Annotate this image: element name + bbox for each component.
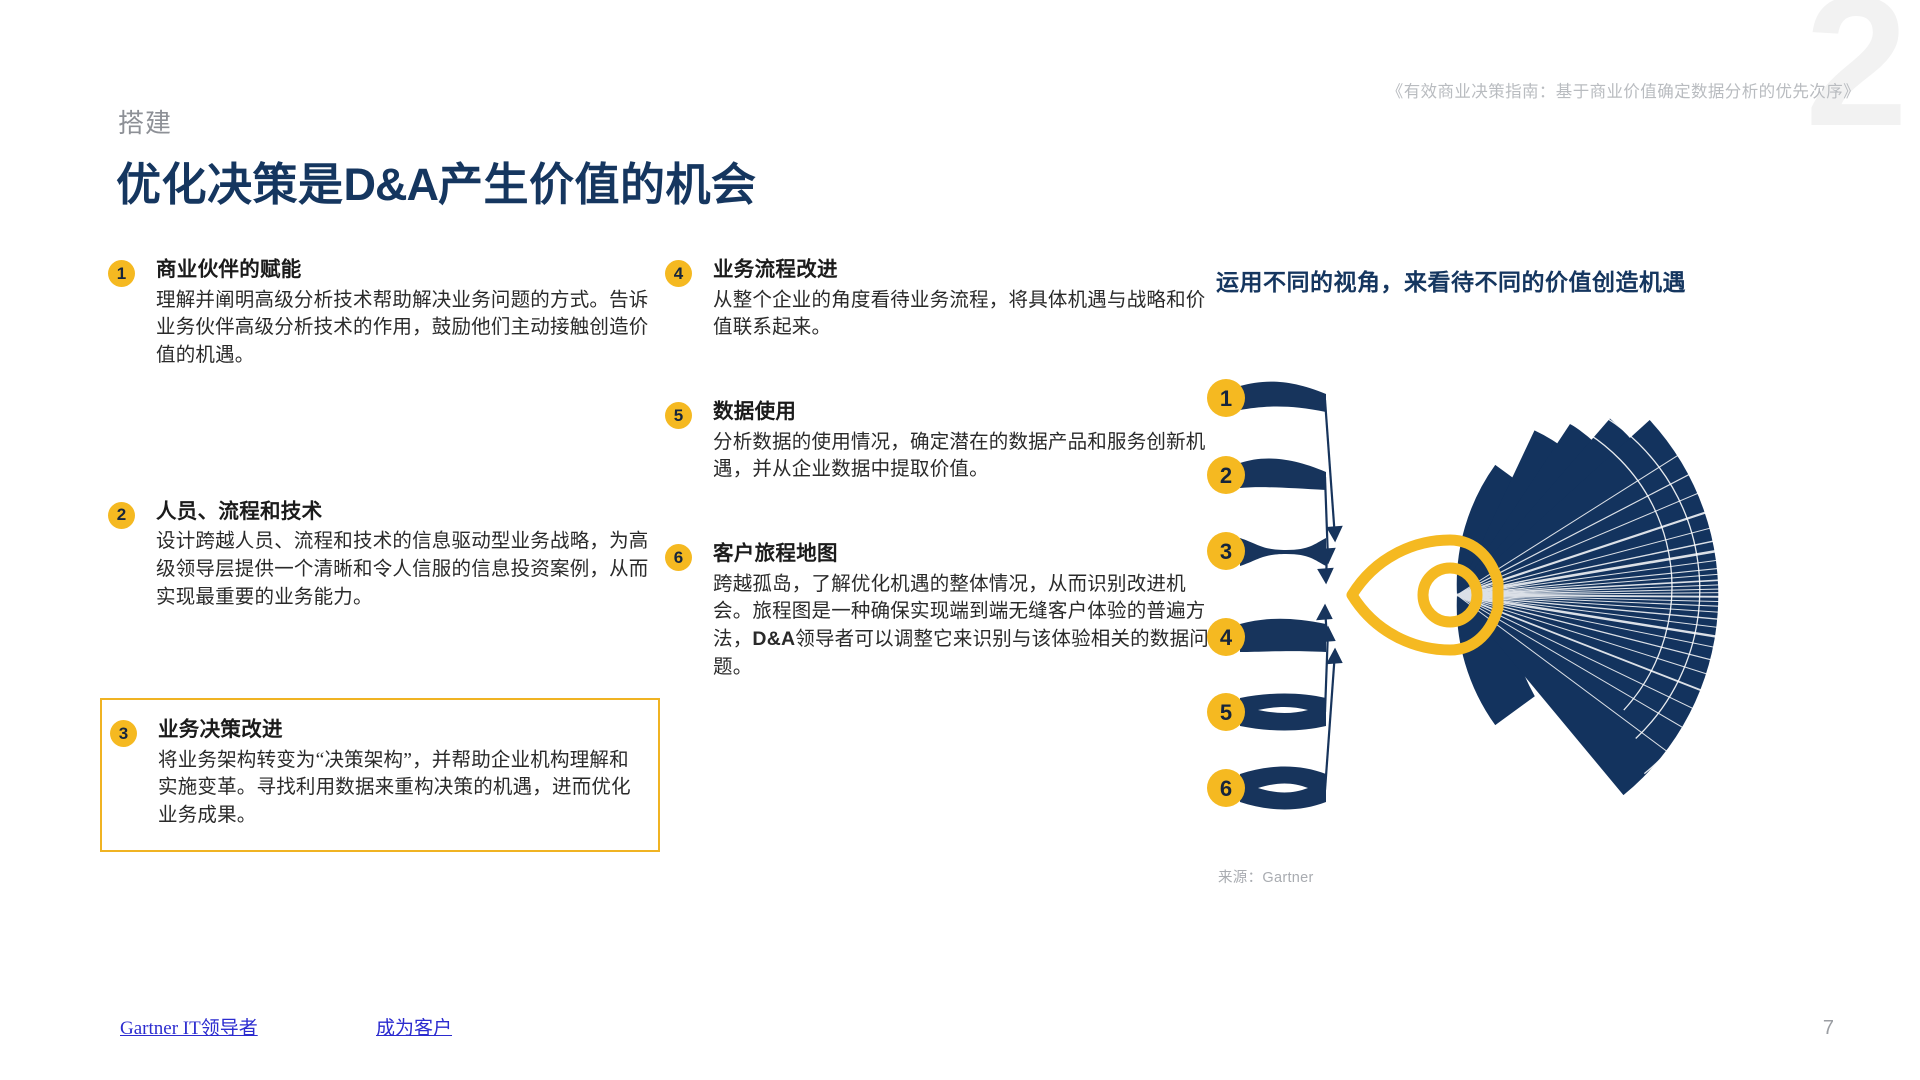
page-title-latin: D&A bbox=[344, 159, 439, 210]
list-item: 6 客户旅程地图 跨越孤岛，了解优化机遇的整体情况，从而识别改进机会。旅程图是一… bbox=[665, 542, 1225, 681]
lens-badge-label: 1 bbox=[1220, 386, 1232, 411]
lens-shapes bbox=[1240, 382, 1326, 810]
lens-badge-label: 4 bbox=[1220, 625, 1233, 650]
document-title-header: 《有效商业决策指南：基于商业价值确定数据分析的优先次序》 bbox=[1387, 78, 1860, 102]
lens-badge-label: 5 bbox=[1220, 700, 1232, 725]
page-title-part-2: 产生价值的机会 bbox=[438, 160, 757, 210]
lens-badge-label: 3 bbox=[1220, 539, 1232, 564]
footer-link-gartner-it-leaders[interactable]: Gartner IT领导者 bbox=[120, 1013, 258, 1040]
list-item: 5 数据使用 分析数据的使用情况，确定潜在的数据产品和服务创新机遇，并从企业数据… bbox=[665, 400, 1225, 484]
item-body: 理解并阐明高级分析技术帮助解决业务问题的方式。告诉业务伙伴高级分析技术的作用，鼓… bbox=[156, 287, 668, 370]
item-number-badge: 6 bbox=[665, 544, 692, 571]
convergence-arrows bbox=[1318, 400, 1341, 790]
item-number-badge: 1 bbox=[108, 260, 135, 287]
item-title: 客户旅程地图 bbox=[713, 542, 1225, 568]
item-body: 将业务架构转变为“决策架构”，并帮助企业机构理解和实施变革。寻找利用数据来重构决… bbox=[158, 747, 642, 830]
item-title: 商业伙伴的赋能 bbox=[156, 258, 668, 284]
footer-link-become-client[interactable]: 成为客户 bbox=[376, 1013, 452, 1040]
item-title: 业务决策改进 bbox=[158, 718, 642, 744]
item-body: 跨越孤岛，了解优化机遇的整体情况，从而识别改进机会。旅程图是一种确保实现端到端无… bbox=[713, 571, 1225, 682]
list-item: 4 业务流程改进 从整个企业的角度看待业务流程，将具体机遇与战略和价值联系起来。 bbox=[665, 258, 1225, 342]
list-item: 1 商业伙伴的赋能 理解并阐明高级分析技术帮助解决业务问题的方式。告诉业务伙伴高… bbox=[108, 258, 668, 370]
item-body-latin: D&A bbox=[752, 628, 795, 650]
highlighted-item-box[interactable]: 3 业务决策改进 将业务架构转变为“决策架构”，并帮助企业机构理解和实施变革。寻… bbox=[100, 698, 660, 852]
source-caption: 来源：Gartner bbox=[1218, 866, 1314, 887]
list-item: 2 人员、流程和技术 设计跨越人员、流程和技术的信息驱动型业务战略，为高级领导层… bbox=[108, 500, 668, 612]
column-two: 4 业务流程改进 从整个企业的角度看待业务流程，将具体机遇与战略和价值联系起来。… bbox=[665, 258, 1225, 681]
perspectives-diagram: 1 2 3 4 5 6 bbox=[1200, 360, 1900, 830]
right-panel-heading: 运用不同的视角，来看待不同的价值创造机遇 bbox=[1216, 263, 1686, 297]
diagram-svg: 1 2 3 4 5 6 bbox=[1200, 360, 1900, 830]
slide-root: 2 《有效商业决策指南：基于商业价值确定数据分析的优先次序》 搭建 优化决策是D… bbox=[0, 0, 1920, 1080]
list-item: 3 业务决策改进 将业务架构转变为“决策架构”，并帮助企业机构理解和实施变革。寻… bbox=[110, 718, 642, 830]
lens-badge-label: 2 bbox=[1220, 463, 1232, 488]
item-title: 人员、流程和技术 bbox=[156, 500, 668, 526]
item-body: 分析数据的使用情况，确定潜在的数据产品和服务创新机遇，并从企业数据中提取价值。 bbox=[713, 429, 1225, 484]
item-number-badge: 2 bbox=[108, 502, 135, 529]
item-title: 业务流程改进 bbox=[713, 258, 1225, 284]
lens-number-badges: 1 2 3 4 5 6 bbox=[1207, 379, 1245, 807]
item-number-badge: 3 bbox=[110, 720, 137, 747]
lens-badge-label: 6 bbox=[1220, 776, 1232, 801]
page-title-part-1: 优化决策是 bbox=[116, 160, 344, 210]
page-number: 7 bbox=[1823, 1017, 1834, 1040]
page-title: 优化决策是D&A产生价值的机会 bbox=[116, 148, 757, 213]
item-number-badge: 4 bbox=[665, 260, 692, 287]
item-title: 数据使用 bbox=[713, 400, 1225, 426]
slide-eyebrow: 搭建 bbox=[118, 103, 172, 140]
item-body: 从整个企业的角度看待业务流程，将具体机遇与战略和价值联系起来。 bbox=[713, 287, 1225, 342]
item-body: 设计跨越人员、流程和技术的信息驱动型业务战略，为高级领导层提供一个清晰和令人信服… bbox=[156, 528, 668, 611]
item-number-badge: 5 bbox=[665, 402, 692, 429]
column-one: 1 商业伙伴的赋能 理解并阐明高级分析技术帮助解决业务问题的方式。告诉业务伙伴高… bbox=[108, 258, 668, 611]
